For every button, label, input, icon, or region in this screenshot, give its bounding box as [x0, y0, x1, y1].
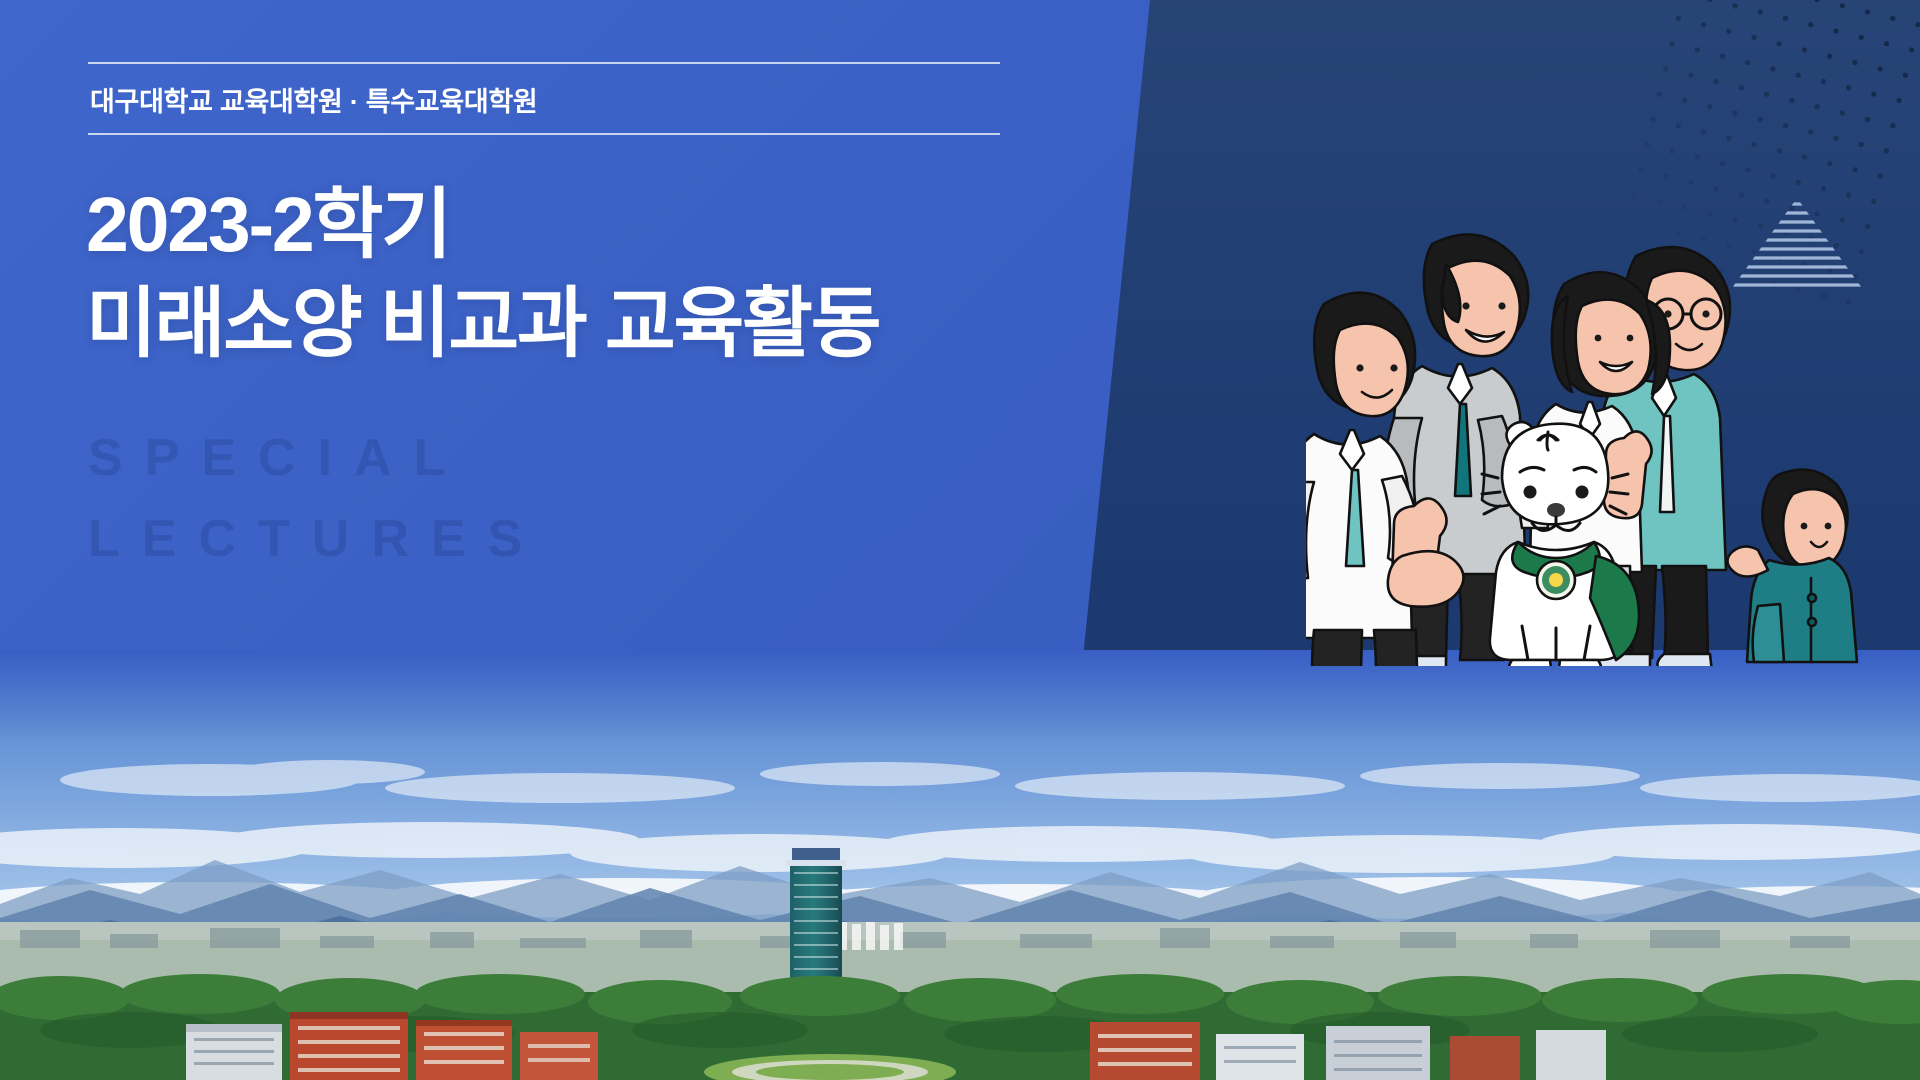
campus-photo [0, 650, 1920, 1080]
promotional-banner: 대구대학교 교육대학원 · 특수교육대학원 2023-2학기 미래소양 비교과 … [0, 0, 1920, 1080]
kicker-block: 대구대학교 교육대학원 · 특수교육대학원 [88, 62, 1000, 135]
person-5 [1727, 470, 1857, 662]
title-line-2: 미래소양 비교과 교육활동 [86, 275, 879, 374]
brick-buildings-left [186, 1002, 606, 1080]
sports-field [700, 1050, 960, 1080]
watermark-text: SPECIAL LECTURES [88, 418, 544, 579]
buildings-right [1090, 1006, 1610, 1080]
watermark-line-1: SPECIAL [88, 418, 544, 499]
kicker-rule-bottom [88, 133, 1000, 135]
kicker-text: 대구대학교 교육대학원 · 특수교육대학원 [88, 64, 1000, 133]
title-line-1: 2023-2학기 [86, 176, 879, 275]
page-title: 2023-2학기 미래소양 비교과 교육활동 [86, 176, 879, 375]
watermark-line-2: LECTURES [88, 499, 544, 580]
students-illustration [1306, 226, 1906, 666]
